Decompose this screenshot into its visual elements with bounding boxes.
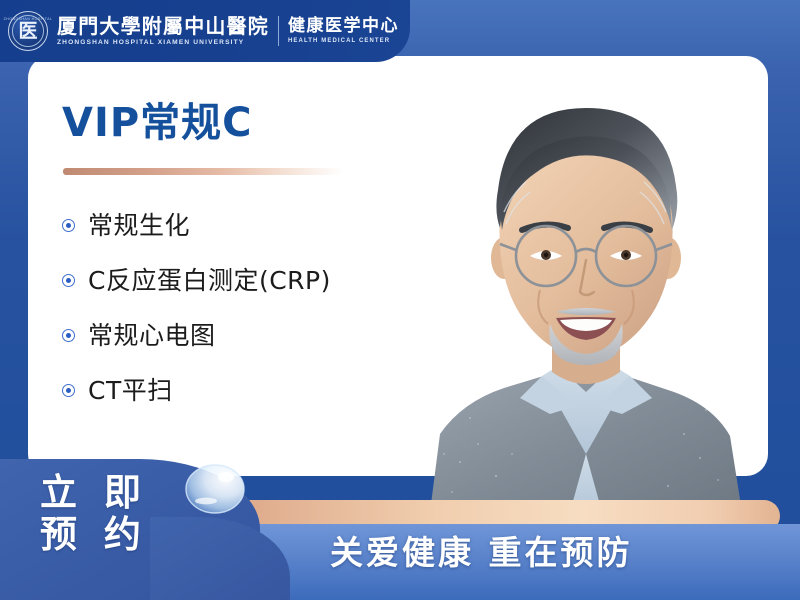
model-photo (400, 62, 770, 512)
bullet-icon (62, 384, 75, 397)
water-droplet-icon (182, 462, 248, 518)
cta-label[interactable]: 立 即 预 约 (40, 472, 148, 556)
bullet-icon (62, 329, 75, 342)
list-item: C反应蛋白测定(CRP) (62, 253, 331, 308)
hospital-name-cn: 厦門大學附屬中山醫院 (57, 16, 269, 37)
brand: 厦門大學附屬中山醫院 ZHONGSHAN HOSPITAL XIAMEN UNI… (57, 0, 399, 62)
cta-line-2: 预 约 (40, 514, 148, 556)
bullet-icon (62, 274, 75, 287)
center-name-block: 健康医学中心 HEALTH MEDICAL CENTER (288, 18, 399, 45)
list-item: 常规心电图 (62, 308, 331, 363)
list-item-label: 常规心电图 (88, 323, 216, 348)
hospital-emblem-icon: ZHONGSHAN HOSPITAL 医 (8, 11, 48, 51)
header-bar: ZHONGSHAN HOSPITAL 医 厦門大學附屬中山醫院 ZHONGSHA… (0, 0, 410, 62)
list-item-label: C反应蛋白测定(CRP) (88, 268, 331, 293)
hospital-name-block: 厦門大學附屬中山醫院 ZHONGSHAN HOSPITAL XIAMEN UNI… (57, 16, 269, 47)
list-item-label: CT平扫 (88, 378, 173, 403)
center-name-cn: 健康医学中心 (288, 18, 399, 36)
center-name-en: HEALTH MEDICAL CENTER (288, 38, 399, 44)
title-underline (63, 168, 343, 175)
list-item: 常规生化 (62, 198, 331, 253)
bullet-icon (62, 219, 75, 232)
list-item: CT平扫 (62, 363, 331, 418)
hospital-name-en: ZHONGSHAN HOSPITAL XIAMEN UNIVERSITY (57, 40, 269, 47)
emblem-glyph: 医 (9, 12, 47, 50)
cta-line-1: 立 即 (40, 472, 148, 514)
slogan-text: 关爱健康 重在预防 (330, 536, 633, 569)
service-list: 常规生化 C反应蛋白测定(CRP) 常规心电图 CT平扫 (62, 198, 331, 418)
poster-root: ZHONGSHAN HOSPITAL 医 厦門大學附屬中山醫院 ZHONGSHA… (0, 0, 800, 600)
brand-divider (278, 16, 279, 46)
page-title: VIP常规C (62, 103, 253, 143)
list-item-label: 常规生化 (88, 213, 190, 238)
